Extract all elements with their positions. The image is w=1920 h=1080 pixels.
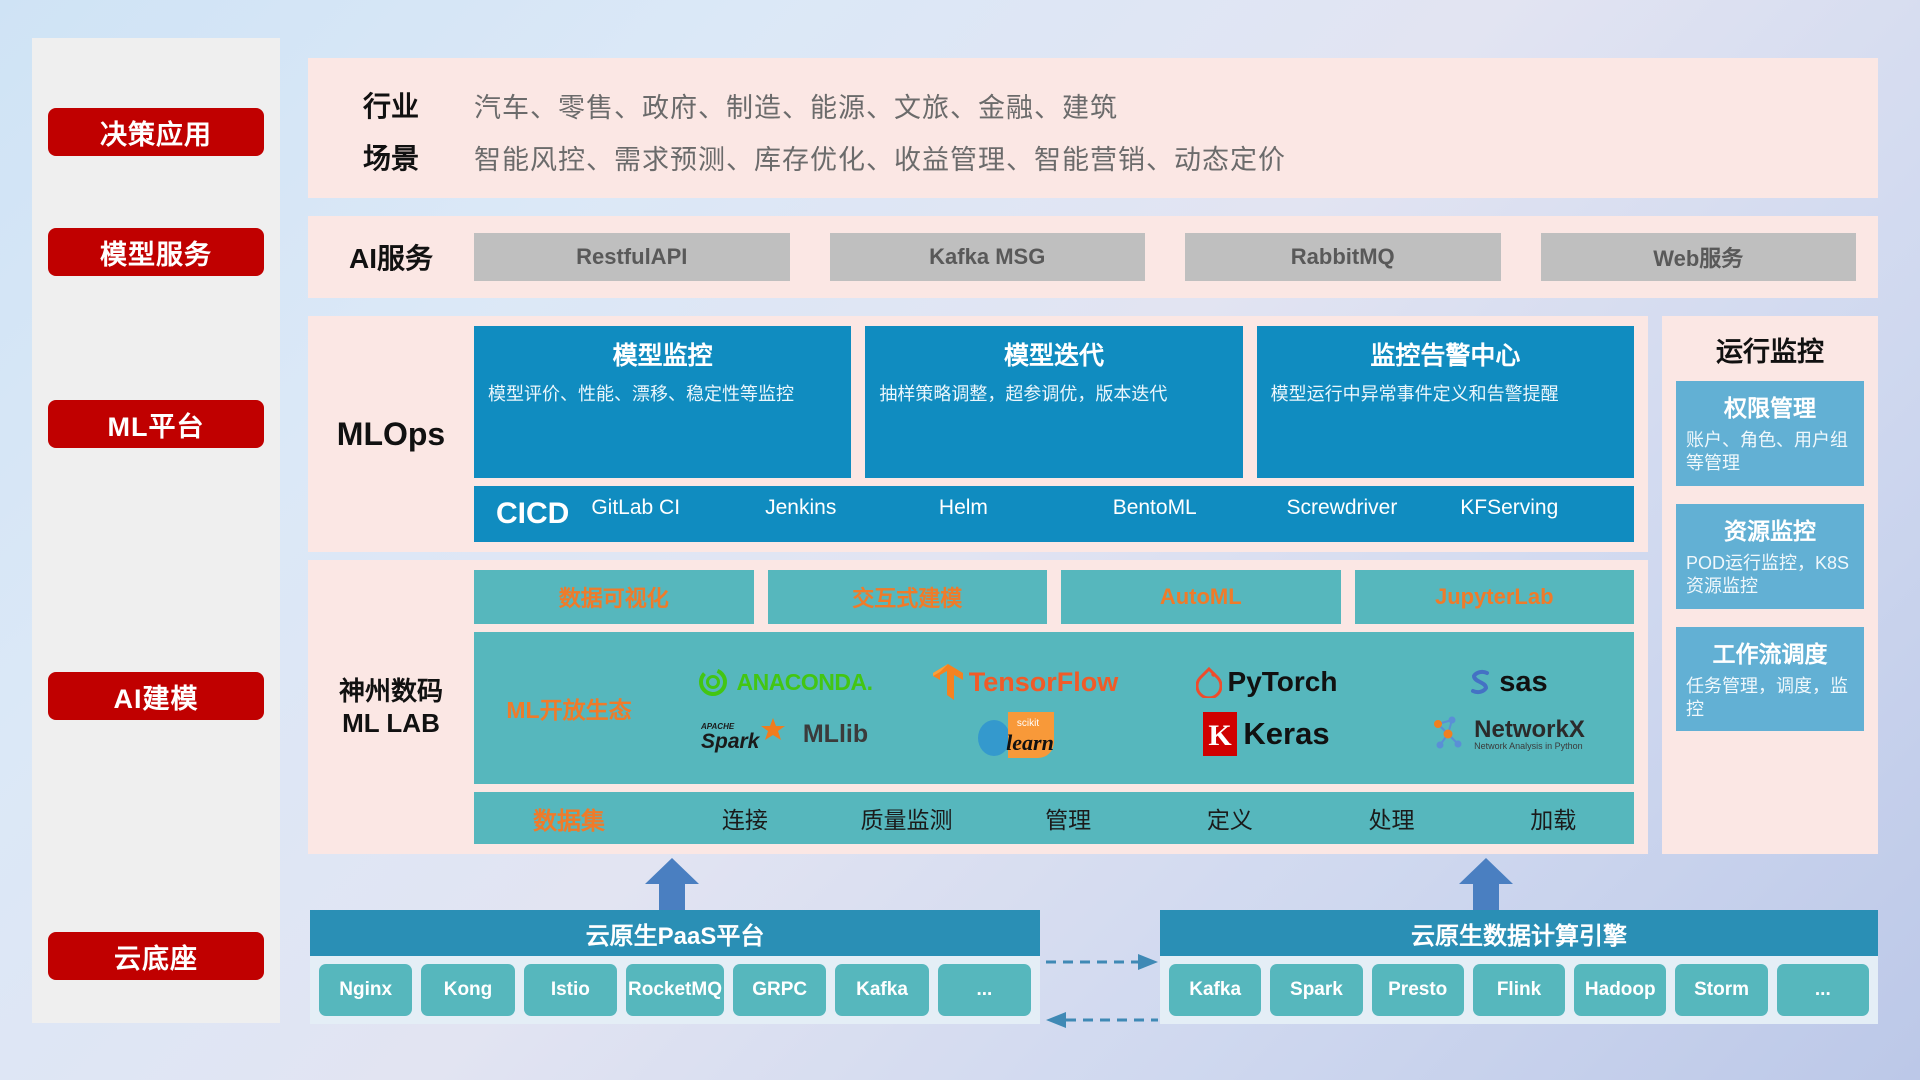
mlops-card-title: 监控告警中心 <box>1271 336 1620 372</box>
ml-ecosystem-panel: ML开放生态 ANACONDA. <box>474 632 1634 784</box>
stage-chip-ai-modeling[interactable]: AI建模 <box>48 672 264 720</box>
monitoring-card-desc: 账户、角色、用户组等管理 <box>1686 429 1854 476</box>
cicd-item-helm[interactable]: Helm <box>939 497 1113 531</box>
svg-text:scikit: scikit <box>1016 718 1038 729</box>
mlops-label: MLOps <box>308 316 474 552</box>
scenario-label: 场景 <box>308 137 474 177</box>
cloud-chip-hadoop[interactable]: Hadoop <box>1574 964 1666 1016</box>
cloud-chip-label: ... <box>1815 980 1831 1000</box>
cloud-data-engine-column: 云原生数据计算引擎 Kafka Spark Presto Flink Hadoo… <box>1160 910 1878 1024</box>
monitoring-card-title: 资源监控 <box>1686 512 1854 546</box>
application-row-scenario: 场景 智能风控、需求预测、库存优化、收益管理、智能营销、动态定价 <box>308 131 1878 183</box>
stage-chip-label: 决策应用 <box>100 113 212 152</box>
arrow-right-dashed-icon <box>1046 952 1158 977</box>
cicd-item-kfserving[interactable]: KFServing <box>1460 497 1634 531</box>
cloud-chip-grpc[interactable]: GRPC <box>733 964 826 1016</box>
cloud-data-engine-title: 云原生数据计算引擎 <box>1160 910 1878 956</box>
mlops-card-model-monitoring[interactable]: 模型监控 模型评价、性能、漂移、稳定性等监控 <box>474 326 851 478</box>
cloud-chip-kafka[interactable]: Kafka <box>1169 964 1261 1016</box>
cicd-bar: CICD GitLab CI Jenkins Helm BentoML Scre… <box>474 486 1634 542</box>
cloud-chip-label: Kafka <box>1189 980 1241 1000</box>
dataset-item-management[interactable]: 管理 <box>987 801 1149 835</box>
cicd-item-screwdriver[interactable]: Screwdriver <box>1286 497 1460 531</box>
service-chip-label: RestfulAPI <box>576 244 687 270</box>
cloud-chip-label: Nginx <box>339 980 392 1000</box>
ai-service-band: AI服务 RestfulAPI Kafka MSG RabbitMQ Web服务 <box>308 216 1878 298</box>
cloud-chip-label: RocketMQ <box>628 980 722 1000</box>
stage-chip-model-service[interactable]: 模型服务 <box>48 228 264 276</box>
stage-chip-decision-application[interactable]: 决策应用 <box>48 108 264 156</box>
arrow-up-data-engine-icon <box>1459 858 1513 915</box>
cloud-chip-label: Presto <box>1388 980 1447 1000</box>
cloud-chip-storm[interactable]: Storm <box>1675 964 1767 1016</box>
service-chip-kafka-msg[interactable]: Kafka MSG <box>830 233 1146 281</box>
ml-lab-label: 神州数码 ML LAB <box>308 560 474 854</box>
monitoring-card-desc: 任务管理，调度，监控 <box>1686 675 1854 722</box>
ml-lab-label-line1: 神州数码 <box>339 675 443 708</box>
monitoring-band: 运行监控 权限管理 账户、角色、用户组等管理 资源监控 POD运行监控，K8S资… <box>1662 316 1878 854</box>
logo-spark-mllib: APACHE Spark MLlib <box>701 715 868 753</box>
arrow-up-paas-icon <box>645 858 699 915</box>
pytorch-label: PyTorch <box>1228 666 1338 698</box>
networkx-icon <box>1430 714 1468 754</box>
cloud-chip-label: Kong <box>444 980 493 1000</box>
monitoring-card-title: 工作流调度 <box>1686 635 1854 669</box>
cloud-chip-presto[interactable]: Presto <box>1372 964 1464 1016</box>
cloud-chip-label: Istio <box>551 980 590 1000</box>
networkx-label: NetworkX <box>1474 718 1585 742</box>
ml-lab-label-line2: ML LAB <box>342 707 440 740</box>
cicd-item-gitlab-ci[interactable]: GitLab CI <box>591 497 765 531</box>
scikit-learn-icon: scikit learn <box>972 708 1080 760</box>
cloud-chip-more[interactable]: ... <box>938 964 1031 1016</box>
dataset-bar: 数据集 连接 质量监测 管理 定义 处理 加载 <box>474 792 1634 844</box>
stage-chip-label: ML平台 <box>108 405 205 444</box>
mlops-card-desc: 模型运行中异常事件定义和告警提醒 <box>1271 382 1620 406</box>
logo-sas: sas <box>1467 666 1547 699</box>
cloud-chip-istio[interactable]: Istio <box>524 964 617 1016</box>
cloud-chip-kafka[interactable]: Kafka <box>835 964 928 1016</box>
cloud-chip-label: Storm <box>1694 980 1749 1000</box>
monitoring-card-title: 权限管理 <box>1686 389 1854 423</box>
architecture-diagram: 决策应用 模型服务 ML平台 AI建模 云底座 行业 汽车、零售、政府、制造、能… <box>0 0 1920 1080</box>
logo-scikit-learn: scikit learn <box>972 708 1080 760</box>
cloud-chip-kong[interactable]: Kong <box>421 964 514 1016</box>
lab-tab-automl[interactable]: AutoML <box>1061 570 1341 624</box>
industry-label: 行业 <box>308 85 474 125</box>
application-band: 行业 汽车、零售、政府、制造、能源、文旅、金融、建筑 场景 智能风控、需求预测、… <box>308 58 1878 198</box>
cicd-label: CICD <box>474 497 591 531</box>
dataset-item-loading[interactable]: 加载 <box>1472 801 1634 835</box>
mlops-card-desc: 模型评价、性能、漂移、稳定性等监控 <box>488 382 837 406</box>
stage-chip-label: 模型服务 <box>100 233 212 272</box>
lab-tab-label: AutoML <box>1160 584 1242 610</box>
sas-icon <box>1467 667 1493 697</box>
spark-icon: APACHE Spark <box>701 715 797 753</box>
lab-tab-interactive-modeling[interactable]: 交互式建模 <box>768 570 1048 624</box>
monitoring-card-workflow[interactable]: 工作流调度 任务管理，调度，监控 <box>1676 627 1864 732</box>
lab-tab-label: 交互式建模 <box>852 581 962 613</box>
svg-text:Spark: Spark <box>701 730 761 753</box>
lab-tab-data-visualization[interactable]: 数据可视化 <box>474 570 754 624</box>
monitoring-card-desc: POD运行监控，K8S资源监控 <box>1686 552 1854 599</box>
application-row-industry: 行业 汽车、零售、政府、制造、能源、文旅、金融、建筑 <box>308 79 1878 131</box>
sas-label: sas <box>1499 666 1547 699</box>
dataset-label: 数据集 <box>474 801 664 836</box>
dataset-item-definition[interactable]: 定义 <box>1149 801 1311 835</box>
networkx-tagline: Network Analysis in Python <box>1474 742 1585 751</box>
cloud-chip-label: Hadoop <box>1585 980 1656 1000</box>
dataset-item-connect[interactable]: 连接 <box>664 801 826 835</box>
logo-keras: K Keras <box>1203 712 1329 756</box>
logo-anaconda: ANACONDA. <box>696 665 872 699</box>
stage-chip-cloud-foundation[interactable]: 云底座 <box>48 932 264 980</box>
ml-lab-band: 神州数码 ML LAB 数据可视化 交互式建模 AutoML JupyterLa… <box>308 560 1648 854</box>
pytorch-icon <box>1196 666 1222 698</box>
mlops-card-model-iteration[interactable]: 模型迭代 抽样策略调整，超参调优，版本迭代 <box>865 326 1242 478</box>
tensorflow-icon <box>933 664 963 700</box>
monitoring-title: 运行监控 <box>1662 316 1878 381</box>
scenario-value: 智能风控、需求预测、库存优化、收益管理、智能营销、动态定价 <box>474 138 1286 177</box>
mllib-label: MLlib <box>803 720 868 749</box>
service-chip-label: Web服务 <box>1653 241 1743 273</box>
cloud-chip-label: GRPC <box>752 980 807 1000</box>
cloud-chip-rocketmq[interactable]: RocketMQ <box>626 964 724 1016</box>
service-chip-restfulapi[interactable]: RestfulAPI <box>474 233 790 281</box>
service-chip-web-service[interactable]: Web服务 <box>1541 233 1857 281</box>
stage-rail <box>32 38 280 1023</box>
monitoring-card-permission[interactable]: 权限管理 账户、角色、用户组等管理 <box>1676 381 1864 486</box>
anaconda-icon <box>696 665 730 699</box>
cloud-chip-nginx[interactable]: Nginx <box>319 964 412 1016</box>
lab-tab-label: JupyterLab <box>1435 584 1554 610</box>
cloud-paas-title: 云原生PaaS平台 <box>310 910 1040 956</box>
cloud-chip-more[interactable]: ... <box>1777 964 1869 1016</box>
logo-networkx: NetworkX Network Analysis in Python <box>1430 714 1585 754</box>
stage-chip-label: 云底座 <box>114 937 198 976</box>
logo-tensorflow: TensorFlow <box>933 664 1119 700</box>
anaconda-label: ANACONDA. <box>736 669 872 696</box>
arrow-left-dashed-icon <box>1046 1010 1158 1035</box>
svg-text:learn: learn <box>1006 730 1054 755</box>
tensorflow-label: TensorFlow <box>969 667 1119 698</box>
industry-value: 汽车、零售、政府、制造、能源、文旅、金融、建筑 <box>474 86 1118 125</box>
cloud-chip-label: Spark <box>1290 980 1343 1000</box>
cloud-chip-label: Kafka <box>856 980 908 1000</box>
stage-chip-ml-platform[interactable]: ML平台 <box>48 400 264 448</box>
cloud-chip-label: Flink <box>1497 980 1541 1000</box>
mlops-card-desc: 抽样策略调整，超参调优，版本迭代 <box>879 382 1228 406</box>
keras-label: Keras <box>1243 716 1329 752</box>
lab-tab-jupyterlab[interactable]: JupyterLab <box>1355 570 1635 624</box>
monitoring-card-resource[interactable]: 资源监控 POD运行监控，K8S资源监控 <box>1676 504 1864 609</box>
cloud-chip-label: ... <box>976 980 992 1000</box>
service-chip-label: RabbitMQ <box>1291 244 1395 270</box>
service-chip-label: Kafka MSG <box>929 244 1045 270</box>
cloud-chip-flink[interactable]: Flink <box>1473 964 1565 1016</box>
mlops-band: MLOps 模型监控 模型评价、性能、漂移、稳定性等监控 模型迭代 抽样策略调整… <box>308 316 1648 552</box>
dataset-item-processing[interactable]: 处理 <box>1311 801 1473 835</box>
stage-chip-label: AI建模 <box>114 677 199 716</box>
mlops-card-title: 模型监控 <box>488 336 837 372</box>
mlops-card-alert-center[interactable]: 监控告警中心 模型运行中异常事件定义和告警提醒 <box>1257 326 1634 478</box>
ai-service-label: AI服务 <box>308 237 474 277</box>
cicd-item-bentoml[interactable]: BentoML <box>1113 497 1287 531</box>
svg-text:K: K <box>1209 719 1233 752</box>
lab-tab-label: 数据可视化 <box>559 581 669 613</box>
cloud-chip-spark[interactable]: Spark <box>1270 964 1362 1016</box>
cloud-paas-column: 云原生PaaS平台 Nginx Kong Istio RocketMQ GRPC… <box>310 910 1040 1024</box>
dataset-item-quality-monitoring[interactable]: 质量监测 <box>826 801 988 835</box>
keras-icon: K <box>1203 712 1237 756</box>
service-chip-rabbitmq[interactable]: RabbitMQ <box>1185 233 1501 281</box>
cicd-item-jenkins[interactable]: Jenkins <box>765 497 939 531</box>
logo-pytorch: PyTorch <box>1196 666 1338 698</box>
ml-ecosystem-label: ML开放生态 <box>474 691 664 725</box>
mlops-card-title: 模型迭代 <box>879 336 1228 372</box>
